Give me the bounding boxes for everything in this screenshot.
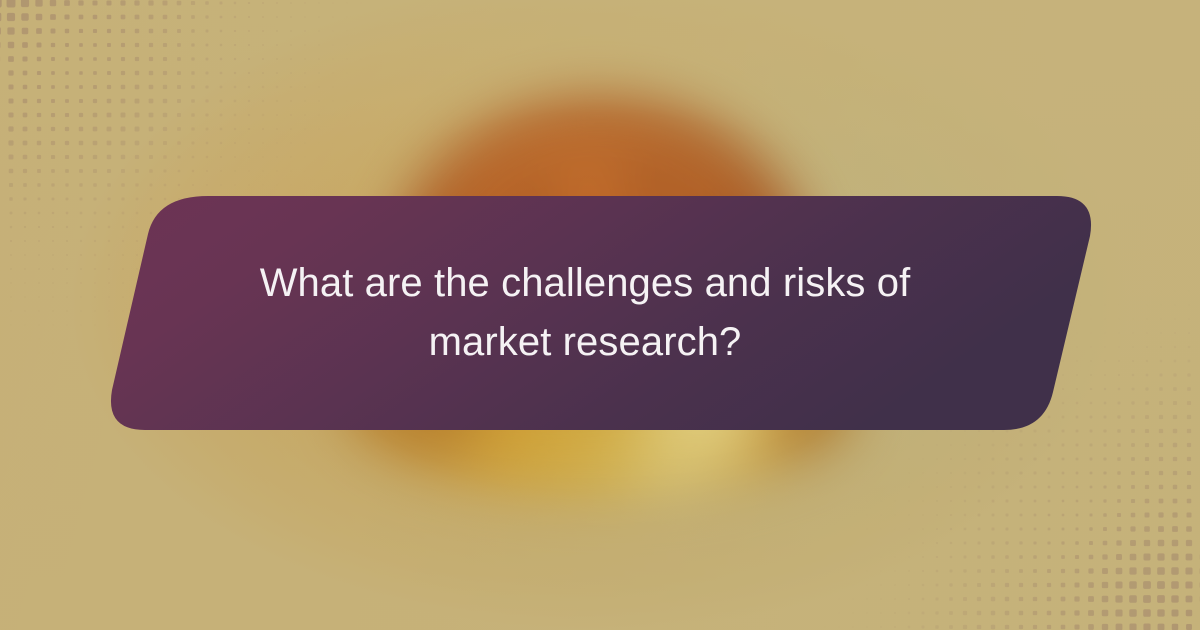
question-card-banner: What are the challenges and risks of mar… — [0, 0, 1200, 630]
question-card: What are the challenges and risks of mar… — [0, 0, 1200, 630]
question-text: What are the challenges and risks of mar… — [200, 196, 970, 430]
